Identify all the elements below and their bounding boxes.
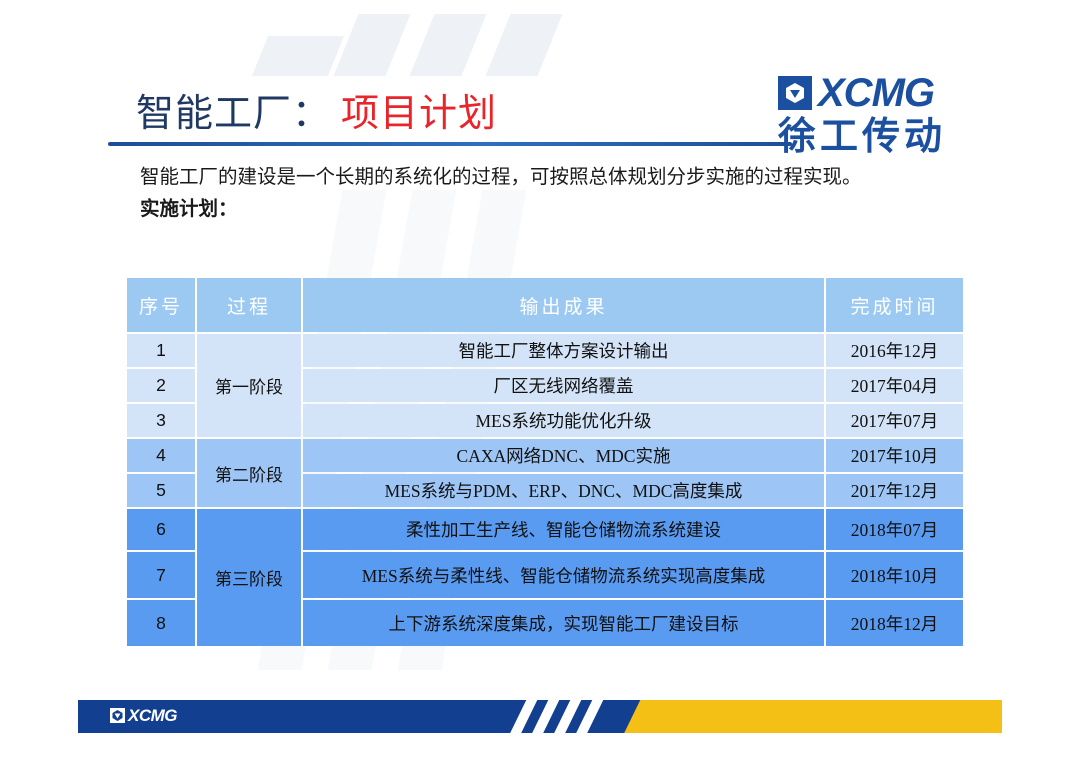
cell-output: 厂区无线网络覆盖 (303, 369, 824, 402)
table-row: 4 第二阶段 CAXA网络DNC、MDC实施 2017年10月 (127, 439, 963, 472)
table-header-row: 序号 过程 输出成果 完成时间 (127, 278, 963, 332)
body-paragraph: 智能工厂的建设是一个长期的系统化的过程，可按照总体规划分步实施的过程实现。 (140, 163, 930, 193)
cell-phase: 第二阶段 (197, 439, 301, 507)
table-row: 6 第三阶段 柔性加工生产线、智能仓储物流系统建设 2018年07月 (127, 509, 963, 550)
body-text-block: 智能工厂的建设是一个长期的系统化的过程，可按照总体规划分步实施的过程实现。 实施… (140, 163, 930, 225)
table-body: 1 第一阶段 智能工厂整体方案设计输出 2016年12月 2 厂区无线网络覆盖 … (127, 334, 963, 646)
column-header-date: 完成时间 (826, 278, 963, 332)
title-divider (108, 142, 792, 146)
cell-output: MES系统与PDM、ERP、DNC、MDC高度集成 (303, 474, 824, 507)
cell-output: 柔性加工生产线、智能仓储物流系统建设 (303, 509, 824, 550)
cell-no: 7 (127, 552, 195, 598)
background-watermark-stripes (250, 14, 590, 74)
cell-date: 2018年07月 (826, 509, 963, 550)
column-header-no: 序号 (127, 278, 195, 332)
cell-date: 2017年07月 (826, 404, 963, 437)
watermark-stripe (409, 14, 486, 76)
body-subheading: 实施计划： (140, 195, 930, 225)
cell-output: MES系统功能优化升级 (303, 404, 824, 437)
page-title-accent: 项目计划 (341, 93, 497, 135)
xcmg-brand-logo: XCMG 徐工传动 (778, 72, 1058, 158)
column-header-output: 输出成果 (303, 278, 824, 332)
cell-no: 5 (127, 474, 195, 507)
cell-date: 2018年10月 (826, 552, 963, 598)
cell-output: MES系统与柔性线、智能仓储物流系统实现高度集成 (303, 552, 824, 598)
page-title: 智能工厂：项目计划 (136, 82, 497, 137)
cell-date: 2017年04月 (826, 369, 963, 402)
footer-brand-bar: XCMG (78, 700, 1002, 733)
implementation-plan-table: 序号 过程 输出成果 完成时间 1 第一阶段 智能工厂整体方案设计输出 2016… (125, 276, 965, 648)
cell-no: 4 (127, 439, 195, 472)
cell-output: 智能工厂整体方案设计输出 (303, 334, 824, 367)
cell-phase: 第三阶段 (197, 509, 301, 646)
footer-logo-wordmark: XCMG (128, 707, 177, 724)
table-row: 1 第一阶段 智能工厂整体方案设计输出 2016年12月 (127, 334, 963, 367)
xcmg-hexagon-icon (110, 708, 125, 723)
cell-no: 3 (127, 404, 195, 437)
watermark-stripe (485, 14, 562, 76)
cell-phase: 第一阶段 (197, 334, 301, 437)
cell-no: 2 (127, 369, 195, 402)
cell-no: 6 (127, 509, 195, 550)
cell-date: 2017年12月 (826, 474, 963, 507)
cell-output: CAXA网络DNC、MDC实施 (303, 439, 824, 472)
watermark-stripe (333, 14, 410, 76)
column-header-phase: 过程 (197, 278, 301, 332)
cell-date: 2018年12月 (826, 600, 963, 646)
brand-logo-wordmark: XCMG (818, 73, 934, 113)
page-title-main: 智能工厂： (136, 93, 331, 135)
footer-xcmg-logo: XCMG (110, 707, 177, 724)
watermark-stripe (252, 36, 344, 76)
xcmg-hexagon-icon (778, 76, 812, 110)
cell-no: 8 (127, 600, 195, 646)
brand-logo-subtitle: 徐工传动 (778, 116, 1058, 158)
cell-date: 2016年12月 (826, 334, 963, 367)
brand-logo-row-primary: XCMG (778, 72, 1058, 114)
cell-no: 1 (127, 334, 195, 367)
cell-date: 2017年10月 (826, 439, 963, 472)
cell-output: 上下游系统深度集成，实现智能工厂建设目标 (303, 600, 824, 646)
